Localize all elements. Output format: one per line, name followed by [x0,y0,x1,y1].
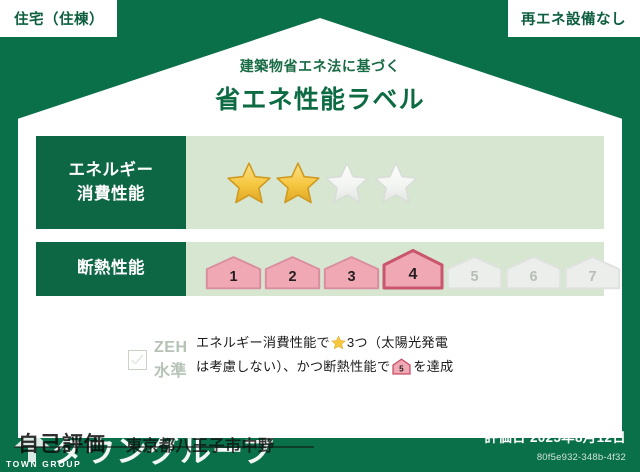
row-insulation-performance: 断熱性能 1234567 [36,242,604,296]
insulation-badge-icon: 5 [392,358,411,381]
row-energy-label: エネルギー 消費性能 [36,136,186,229]
note-line2-text-a: は考慮しない）、かつ断熱性能で [196,359,390,374]
note-line2-text-b: を達成 [413,359,453,374]
row-energy-label-line2: 消費性能 [77,183,145,207]
evaluation-date-value: 2025年8月12日 [530,430,626,445]
page-title: 省エネ性能ラベル [0,80,640,116]
achievement-note: エネルギー消費性能で 3つ（太陽光発電 は考慮しない）、かつ断熱性能で 5 を達… [196,330,453,382]
insulation-level-2: 2 [264,255,321,290]
rating-rows: エネルギー 消費性能 断熱性能 1234567 [36,136,604,309]
star-icon [331,335,346,356]
insulation-level-value: 4 [382,267,444,283]
insulation-level-value: 7 [564,270,621,285]
insulation-badge-value: 5 [399,365,404,374]
evaluation-date: 評価日 2025年8月12日 [484,426,626,446]
insulation-level-value: 6 [505,270,562,285]
zeh-standard-indicator: ZEH水準 [36,330,196,381]
watermark-subbrand: TOWN GROUP [6,459,81,469]
label-id: 80f5e932-348b-4f32 [537,452,626,463]
insulation-level-value: 5 [446,270,503,285]
badge-renewable-energy: 再エネ設備なし [508,0,640,37]
row-energy-performance: エネルギー 消費性能 [36,136,604,229]
note-line1-text-b: 3つ（太陽光発電 [347,335,448,350]
title-block: 建築物省エネ法に基づく 省エネ性能ラベル [0,56,640,116]
insulation-level-6: 6 [505,255,562,290]
zeh-note-block: ZEH水準 エネルギー消費性能で 3つ（太陽光発電 は考慮しない）、かつ断熱性能… [36,330,604,382]
badge-building-type: 住宅（住棟） [0,0,117,37]
star-empty-icon [373,160,419,206]
star-rating [186,160,419,206]
star-empty-icon [324,160,370,206]
insulation-level-value: 1 [205,270,262,285]
insulation-level-4: 4 [382,248,444,290]
overlay-address: 東京都八王子市中野 [126,432,275,456]
row-energy-body [186,136,604,229]
insulation-level-scale: 1234567 [186,248,621,290]
row-insulation-label-line1: 断熱性能 [77,257,145,281]
insulation-level-3: 3 [323,255,380,290]
insulation-level-7: 7 [564,255,621,290]
row-energy-label-line1: エネルギー [69,159,154,183]
insulation-level-value: 3 [323,270,380,285]
insulation-level-value: 2 [264,270,321,285]
row-insulation-label: 断熱性能 [36,242,186,296]
overlay-strike-line [14,446,314,448]
note-line1-text-a: エネルギー消費性能で [196,335,330,350]
row-insulation-body: 1234567 [186,242,621,296]
title-subtitle: 建築物省エネ法に基づく [0,56,640,76]
insulation-level-5: 5 [446,255,503,290]
achievement-note-line2: は考慮しない）、かつ断熱性能で 5 を達成 [196,356,453,381]
achievement-note-line1: エネルギー消費性能で 3つ（太陽光発電 [196,332,453,356]
overlay-self-evaluation: 自己評価 [18,428,106,458]
evaluation-date-label: 評価日 [484,430,525,445]
zeh-label: ZEH水準 [154,339,196,381]
checkbox-unchecked-icon [128,350,147,370]
star-filled-icon [275,160,321,206]
energy-label-card: 住宅（住棟） 再エネ設備なし 建築物省エネ法に基づく 省エネ性能ラベル エネルギ… [0,0,640,472]
star-filled-icon [226,160,272,206]
insulation-level-1: 1 [205,255,262,290]
